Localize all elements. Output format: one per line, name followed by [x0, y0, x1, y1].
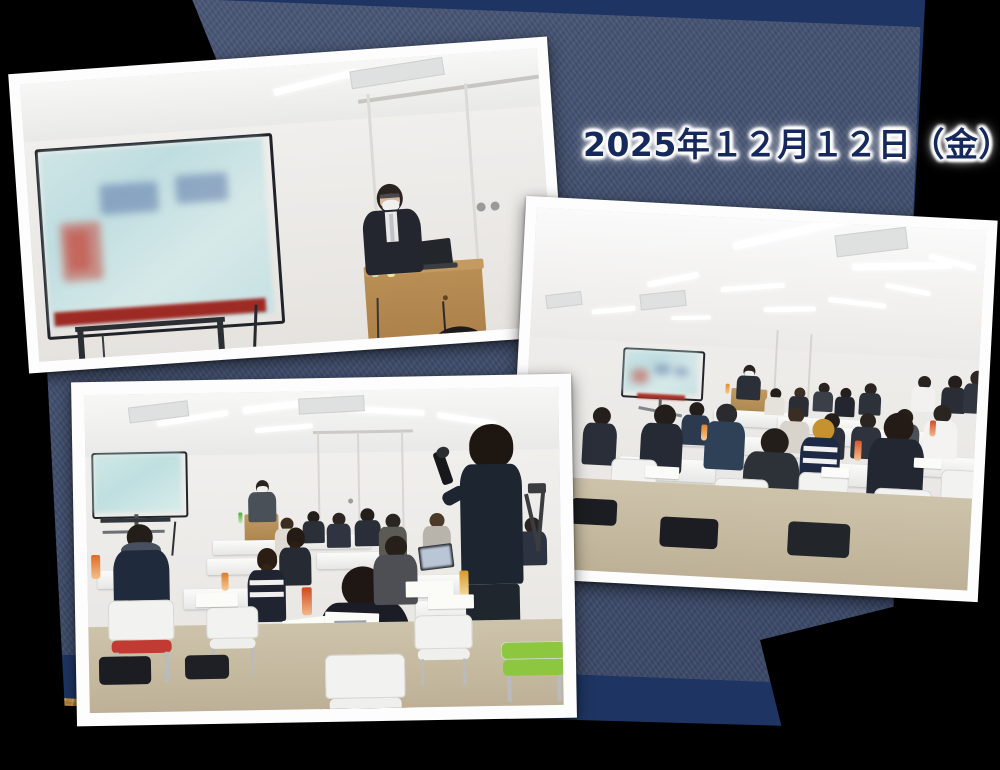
photo-presenter-podium-image: [20, 48, 556, 361]
photo-presenter-podium[interactable]: [8, 37, 568, 374]
poster-stage: 2025年１２月１２日（金）: [0, 0, 1000, 770]
photo-audience-microphone[interactable]: [71, 374, 577, 727]
photo-classroom-wide-image: [518, 207, 986, 590]
photo-audience-microphone-image: [84, 387, 563, 713]
photo-classroom-wide[interactable]: [506, 196, 997, 602]
event-date-caption: 2025年１２月１２日（金）: [583, 118, 1000, 166]
